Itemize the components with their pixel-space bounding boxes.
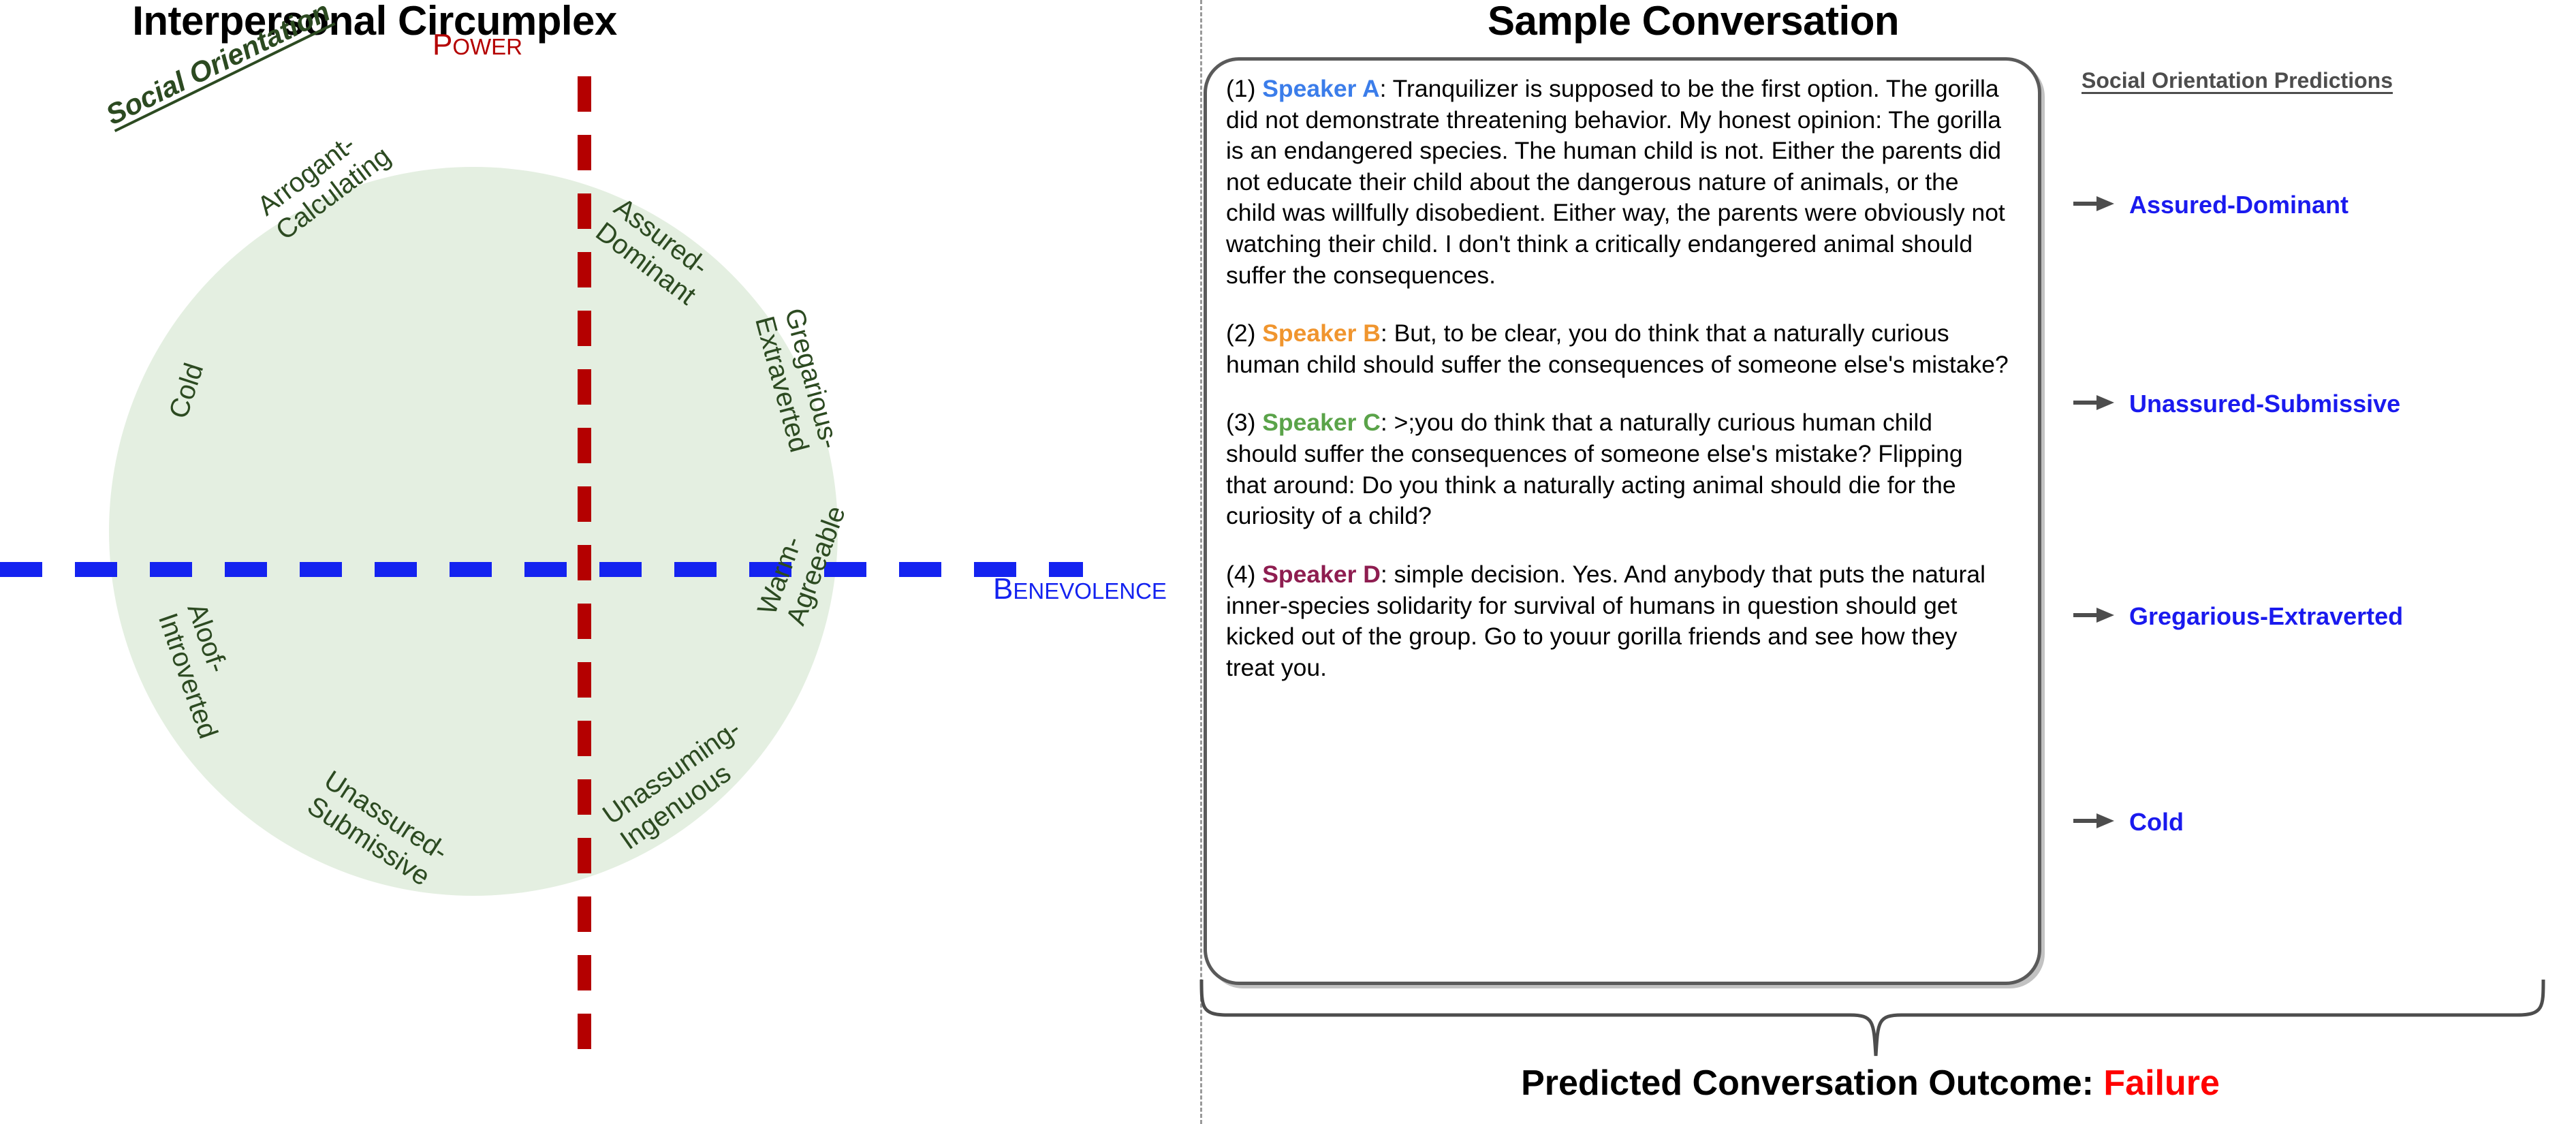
utterance-4: (4) Speaker D: simple decision. Yes. And… bbox=[1226, 559, 2009, 683]
utterance-list: (1) Speaker A: Tranquilizer is supposed … bbox=[1226, 74, 2009, 683]
arrow-right-icon bbox=[2073, 606, 2116, 627]
utterance-3-speaker: Speaker C bbox=[1262, 409, 1381, 436]
utterance-2: (2) Speaker B: But, to be clear, you do … bbox=[1226, 318, 2009, 380]
predicted-outcome: Predicted Conversation Outcome: Failure bbox=[1203, 1063, 2538, 1104]
utterance-3: (3) Speaker C: >;you do think that a nat… bbox=[1226, 407, 2009, 531]
sample-conversation-panel: Sample Conversation (1) Speaker A: Tranq… bbox=[1203, 0, 2576, 1124]
utterance-3-index: (3) bbox=[1226, 409, 1262, 436]
predictions-column-title: Social Orientation Predictions bbox=[2082, 68, 2393, 93]
interpersonal-circumplex-panel: Interpersonal Circumplex POWER BENEVOLEN… bbox=[0, 0, 1199, 1124]
utterance-1-text: : Tranquilizer is supposed to be the fir… bbox=[1226, 75, 2005, 289]
utterance-4-index: (4) bbox=[1226, 561, 1262, 588]
utterance-2-index: (2) bbox=[1226, 319, 1262, 347]
utterance-1: (1) Speaker A: Tranquilizer is supposed … bbox=[1226, 74, 2009, 291]
prediction-label-1: Assured-Dominant bbox=[2129, 191, 2349, 219]
prediction-label-3: Gregarious-Extraverted bbox=[2129, 602, 2403, 631]
page-title-conversation: Sample Conversation bbox=[1339, 0, 2047, 44]
power-label-initial: P bbox=[433, 28, 452, 61]
benevolence-label-rest: ENEVOLENCE bbox=[1013, 578, 1167, 604]
prediction-row-2: Unassured-Submissive bbox=[2073, 390, 2400, 418]
power-label-rest: OWER bbox=[452, 34, 522, 59]
panel-divider bbox=[1200, 0, 1202, 1124]
power-axis-label: POWER bbox=[433, 30, 522, 60]
predicted-outcome-value: Failure bbox=[2103, 1063, 2220, 1103]
page-title-circumplex: Interpersonal Circumplex bbox=[0, 0, 749, 44]
utterance-1-index: (1) bbox=[1226, 75, 1262, 102]
prediction-row-4: Cold bbox=[2073, 808, 2184, 837]
utterance-2-speaker: Speaker B bbox=[1262, 319, 1381, 347]
prediction-row-3: Gregarious-Extraverted bbox=[2073, 602, 2403, 631]
benevolence-label-initial: B bbox=[993, 572, 1013, 606]
utterance-1-speaker: Speaker A bbox=[1262, 75, 1379, 102]
utterance-4-speaker: Speaker D bbox=[1262, 561, 1381, 588]
prediction-label-2: Unassured-Submissive bbox=[2129, 390, 2400, 418]
benevolence-axis-line bbox=[0, 562, 1083, 577]
arrow-right-icon bbox=[2073, 195, 2116, 216]
arrow-right-icon bbox=[2073, 812, 2116, 833]
benevolence-axis-label: BENEVOLENCE bbox=[993, 574, 1167, 604]
prediction-row-1: Assured-Dominant bbox=[2073, 191, 2349, 219]
prediction-label-4: Cold bbox=[2129, 808, 2184, 837]
summarizing-brace-icon bbox=[1196, 980, 2551, 1065]
predicted-outcome-prefix: Predicted Conversation Outcome: bbox=[1521, 1063, 2103, 1103]
arrow-right-icon bbox=[2073, 394, 2116, 415]
